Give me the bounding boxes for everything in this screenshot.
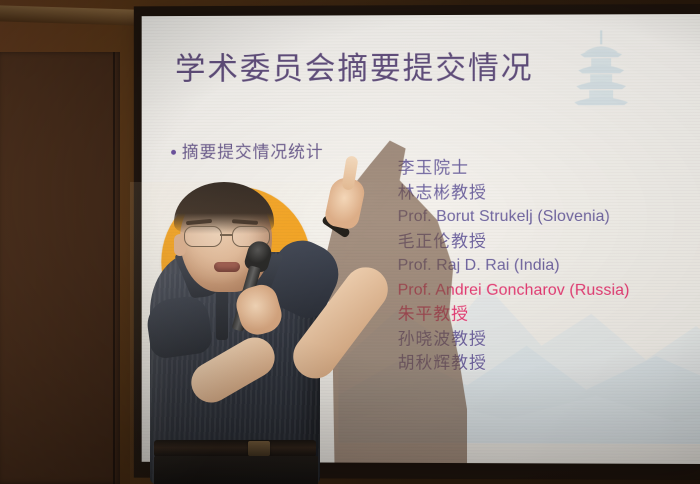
glasses-lens-left (184, 226, 222, 247)
slide-title: 学术委员会摘要提交情况 (175, 43, 534, 89)
list-item: 林志彬教授 (398, 181, 630, 206)
speaker-person (130, 182, 420, 484)
list-item: Prof. Raj D. Rai (India) (398, 254, 630, 279)
list-item: Prof. Andrei Goncharov (Russia) (398, 278, 630, 303)
speaker-belt-buckle (248, 441, 270, 456)
list-item: 朱平教授 (398, 303, 630, 328)
speaker-mouth (214, 262, 240, 272)
list-item: 胡秋辉教授 (398, 351, 630, 376)
list-item: 孙晓波教授 (398, 327, 630, 352)
presentation-photo-scene: 学术委员会摘要提交情况 摘要提交情况统计 1 已投 李玉院士 林志彬教授 Pro… (0, 0, 700, 484)
list-item: Prof. Borut Strukelj (Slovenia) (398, 205, 630, 230)
slide-bullet-label: 摘要提交情况统计 (182, 138, 324, 163)
wall-panel (0, 52, 120, 484)
list-item: 李玉院士 (398, 156, 630, 181)
list-item: 毛正伦教授 (398, 230, 630, 254)
speaker-belt (154, 440, 316, 457)
speaker-trousers (154, 456, 318, 484)
glasses-bridge (220, 234, 232, 236)
slide-bullet: 摘要提交情况统计 (171, 138, 324, 163)
wall-panel-seam (113, 52, 115, 484)
bullet-dot-icon (171, 149, 176, 154)
pagoda-watermark-icon (566, 28, 636, 124)
committee-name-list: 李玉院士 林志彬教授 Prof. Borut Strukelj (Sloveni… (398, 156, 630, 376)
